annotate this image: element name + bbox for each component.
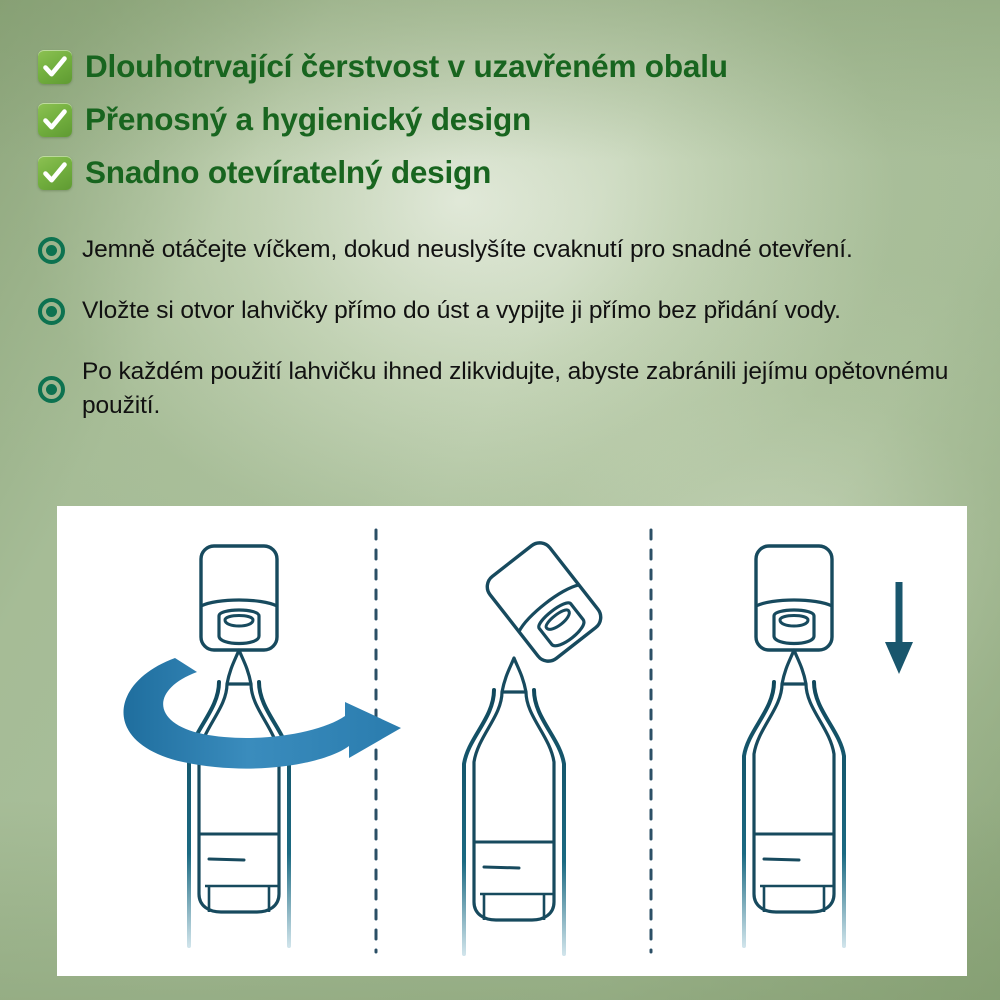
remove-cap-step — [464, 538, 606, 954]
down-arrow-icon — [885, 582, 913, 674]
tilted-cap-icon — [482, 538, 606, 667]
checklist-item-label: Dlouhotrvající čerstvost v uzavřeném oba… — [85, 51, 728, 83]
checklist-item: Dlouhotrvající čerstvost v uzavřeném oba… — [38, 40, 978, 93]
checklist-item: Snadno otevíratelný design — [38, 146, 978, 199]
check-square-icon — [38, 156, 72, 190]
instruction-item: Jemně otáčejte víčkem, dokud neuslyšíte … — [38, 233, 988, 268]
instruction-item-label: Jemně otáčejte víčkem, dokud neuslyšíte … — [82, 233, 853, 268]
checklist-item-label: Přenosný a hygienický design — [85, 104, 531, 136]
instruction-item-label: Vložte si otvor lahvičky přímo do úst a … — [82, 294, 841, 329]
checklist-item-label: Snadno otevíratelný design — [85, 157, 491, 189]
checklist-item: Přenosný a hygienický design — [38, 93, 978, 146]
radio-dot-icon — [38, 376, 65, 403]
twist-cap-step — [124, 546, 402, 946]
instruction-item: Po každém použití lahvičku ihned zlikvid… — [38, 355, 988, 425]
content-wrapper: Dlouhotrvající čerstvost v uzavřeném oba… — [0, 0, 1000, 1000]
check-square-icon — [38, 50, 72, 84]
radio-dot-icon — [38, 298, 65, 325]
usage-illustration-svg — [57, 506, 967, 976]
instruction-item-label: Po každém použití lahvičku ihned zlikvid… — [82, 355, 962, 425]
feature-checklist: Dlouhotrvající čerstvost v uzavřeném oba… — [38, 40, 978, 199]
infographic-root: Dlouhotrvající čerstvost v uzavřeném oba… — [0, 0, 1000, 1000]
check-square-icon — [38, 103, 72, 137]
instruction-list: Jemně otáčejte víčkem, dokud neuslyšíte … — [38, 233, 988, 424]
instruction-item: Vložte si otvor lahvičky přímo do úst a … — [38, 294, 988, 329]
replace-cap-step — [744, 546, 913, 946]
usage-illustration-panel — [57, 506, 967, 976]
radio-dot-icon — [38, 237, 65, 264]
